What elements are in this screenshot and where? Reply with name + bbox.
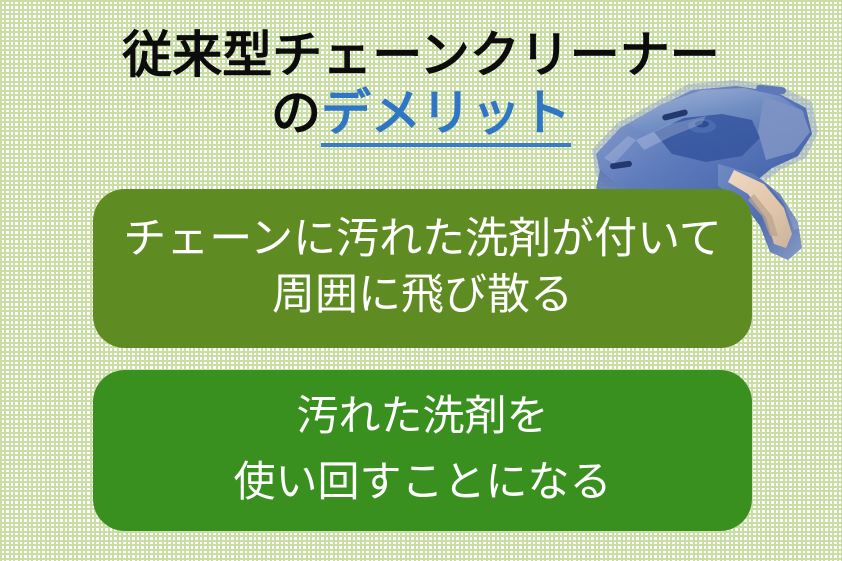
demerit-panel-2-line-2: 使い回すことになる	[233, 449, 611, 515]
device-highlight-3	[768, 178, 800, 230]
slide-canvas: 従来型チェーンクリーナー のデメリット	[0, 0, 842, 561]
demerit-panel-2: 汚れた洗剤を 使い回すことになる	[93, 370, 752, 531]
demerit-panel-1-line-2: 周囲に飛び散る	[272, 267, 573, 323]
device-vent-slot-1	[610, 160, 633, 169]
title-line-1: 従来型チェーンクリーナー	[0, 26, 842, 84]
title-line-2-prefix: の	[271, 84, 321, 142]
title-line-2: のデメリット	[0, 84, 842, 142]
title-highlight-demerit: デメリット	[321, 84, 571, 147]
page-title: 従来型チェーンクリーナー のデメリット	[0, 26, 842, 142]
demerit-panel-2-line-1: 汚れた洗剤を	[296, 383, 548, 449]
demerit-panel-1-line-1: チェーンに汚れた洗剤が付いて	[123, 211, 722, 267]
demerit-panel-1: チェーンに汚れた洗剤が付いて 周囲に飛び散る	[93, 189, 752, 348]
device-brush-shade	[748, 194, 778, 236]
